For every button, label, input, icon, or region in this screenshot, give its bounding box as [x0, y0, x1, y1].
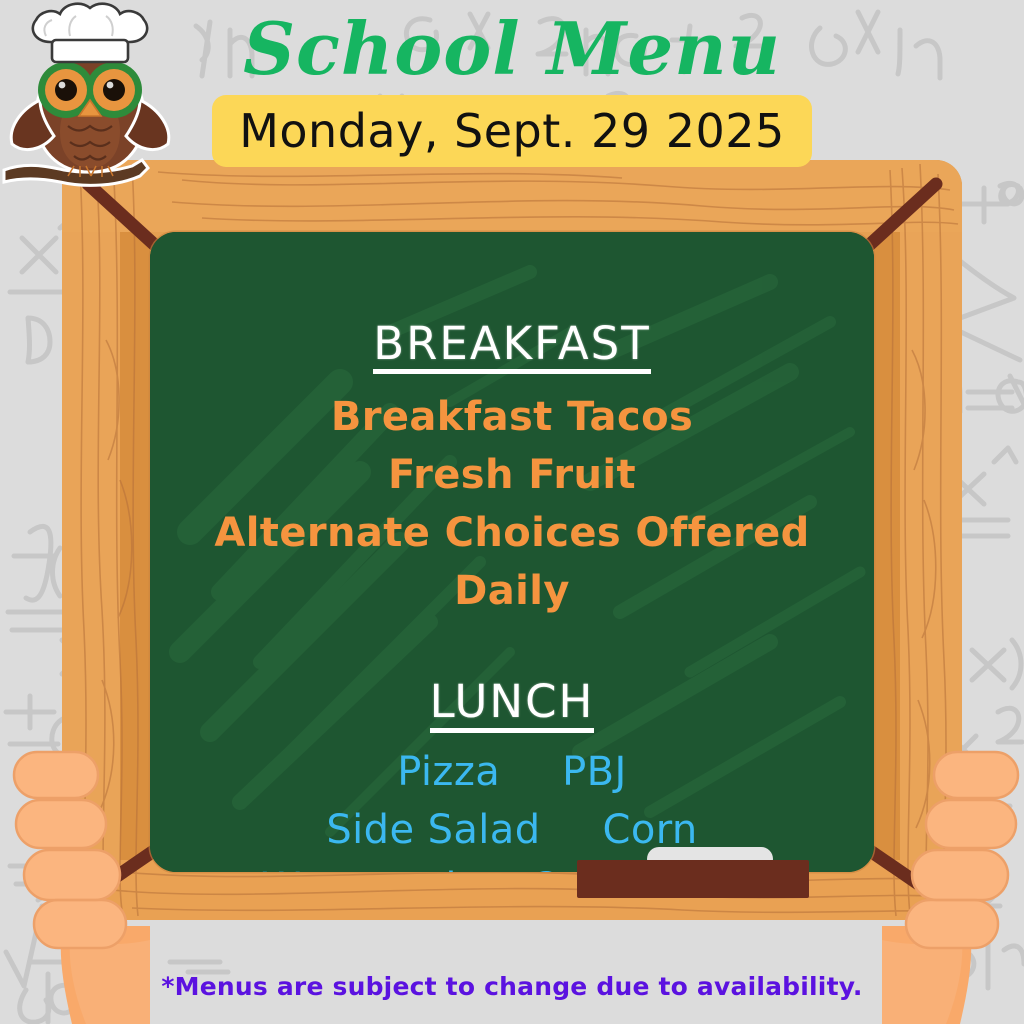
- breakfast-item: Alternate Choices Offered Daily: [150, 504, 874, 620]
- lunch-heading-wrap: LUNCH: [150, 678, 874, 732]
- lunch-item: Pizza: [397, 743, 500, 801]
- lunch-item: Side Salad: [326, 801, 540, 859]
- chalkboard-surface: BREAKFAST Breakfast Tacos Fresh Fruit Al…: [150, 232, 874, 872]
- date-text: Monday, Sept. 29 2025: [239, 104, 785, 158]
- chalkboard: BREAKFAST Breakfast Tacos Fresh Fruit Al…: [62, 160, 962, 920]
- chalk-tray: [62, 860, 962, 920]
- breakfast-items: Breakfast Tacos Fresh Fruit Alternate Ch…: [150, 388, 874, 620]
- lunch-row: Pizza PBJ: [150, 743, 874, 801]
- breakfast-section: BREAKFAST Breakfast Tacos Fresh Fruit Al…: [150, 320, 874, 620]
- menu-content: BREAKFAST Breakfast Tacos Fresh Fruit Al…: [150, 232, 874, 872]
- breakfast-item: Fresh Fruit: [150, 446, 874, 504]
- disclaimer-note: *Menus are subject to change due to avai…: [0, 972, 1024, 1001]
- date-banner: Monday, Sept. 29 2025: [212, 95, 812, 167]
- chef-hat-icon: [33, 4, 147, 62]
- breakfast-heading-wrap: BREAKFAST: [150, 320, 874, 374]
- lunch-heading: LUNCH: [430, 678, 595, 732]
- breakfast-heading: BREAKFAST: [373, 320, 650, 374]
- lunch-item: PBJ: [562, 743, 627, 801]
- chalkboard-eraser-icon[interactable]: [577, 860, 809, 898]
- lunch-section: LUNCH Pizza PBJ Side Salad Corn: [150, 678, 874, 872]
- owl-chef-mascot: [2, 2, 178, 198]
- breakfast-item: Breakfast Tacos: [150, 388, 874, 446]
- school-menu-poster: School Menu Monday, Sept. 29 2025: [0, 0, 1024, 1024]
